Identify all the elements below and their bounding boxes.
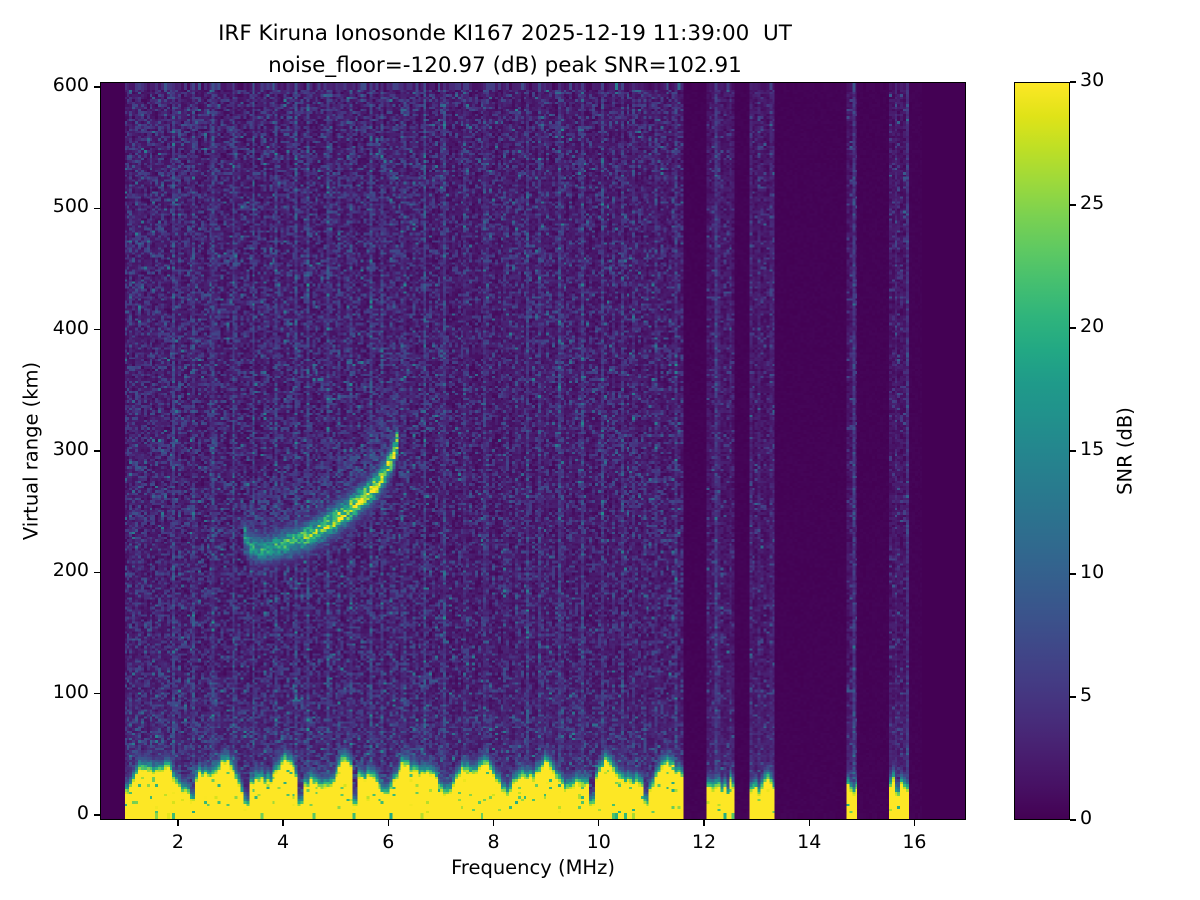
title-line-1: IRF Kiruna Ionosonde KI167 2025-12-19 11… — [0, 18, 1010, 50]
colorbar-tick-mark — [1070, 450, 1076, 451]
y-tick-label: 500 — [53, 195, 89, 217]
x-axis-label: Frequency (MHz) — [100, 856, 966, 879]
colorbar[interactable] — [1014, 82, 1070, 820]
x-tick-mark — [388, 820, 389, 826]
y-tick-label: 100 — [53, 681, 89, 703]
x-tick-label: 8 — [464, 831, 524, 853]
colorbar-tick-label: 10 — [1080, 561, 1104, 583]
y-axis-label: Virtual range (km) — [18, 82, 44, 820]
y-tick-label: 300 — [53, 438, 89, 460]
colorbar-tick-label: 5 — [1080, 684, 1092, 706]
colorbar-tick-mark — [1070, 81, 1076, 82]
colorbar-label-text: SNR (dB) — [1114, 407, 1137, 495]
colorbar-tick-label: 25 — [1080, 192, 1104, 214]
x-tick-mark — [282, 820, 283, 826]
figure-title: IRF Kiruna Ionosonde KI167 2025-12-19 11… — [0, 18, 1010, 82]
x-tick-mark — [703, 820, 704, 826]
colorbar-tick-label: 0 — [1080, 807, 1092, 829]
x-tick-mark — [177, 820, 178, 826]
colorbar-tick-mark — [1070, 819, 1076, 820]
colorbar-tick-mark — [1070, 327, 1076, 328]
colorbar-tick-mark — [1070, 204, 1076, 205]
y-tick-mark — [94, 693, 100, 694]
y-tick-label: 600 — [53, 74, 89, 96]
y-tick-label: 400 — [53, 317, 89, 339]
y-axis-label-text: Virtual range (km) — [20, 362, 43, 540]
ionogram-axes[interactable] — [100, 82, 966, 820]
x-tick-mark — [809, 820, 810, 826]
colorbar-tick-mark — [1070, 696, 1076, 697]
colorbar-tick-label: 20 — [1080, 315, 1104, 337]
y-tick-mark — [94, 450, 100, 451]
colorbar-tick-mark — [1070, 573, 1076, 574]
y-tick-mark — [94, 86, 100, 87]
colorbar-gradient — [1015, 83, 1069, 819]
x-tick-label: 10 — [569, 831, 629, 853]
ionogram-heatmap[interactable] — [101, 83, 965, 819]
y-tick-label: 200 — [53, 559, 89, 581]
x-tick-label: 16 — [884, 831, 944, 853]
y-tick-mark — [94, 572, 100, 573]
x-tick-label: 14 — [779, 831, 839, 853]
x-tick-label: 12 — [674, 831, 734, 853]
colorbar-tick-label: 30 — [1080, 69, 1104, 91]
x-tick-label: 6 — [358, 831, 418, 853]
y-tick-mark — [94, 208, 100, 209]
y-tick-label: 0 — [77, 802, 89, 824]
title-line-2: noise_floor=-120.97 (dB) peak SNR=102.91 — [0, 50, 1010, 82]
x-tick-mark — [493, 820, 494, 826]
y-tick-mark — [94, 329, 100, 330]
ionogram-figure: IRF Kiruna Ionosonde KI167 2025-12-19 11… — [0, 0, 1200, 900]
x-tick-mark — [598, 820, 599, 826]
colorbar-label: SNR (dB) — [1112, 82, 1138, 820]
x-tick-label: 2 — [148, 831, 208, 853]
x-tick-label: 4 — [253, 831, 313, 853]
x-tick-mark — [914, 820, 915, 826]
colorbar-tick-label: 15 — [1080, 438, 1104, 460]
y-tick-mark — [94, 814, 100, 815]
